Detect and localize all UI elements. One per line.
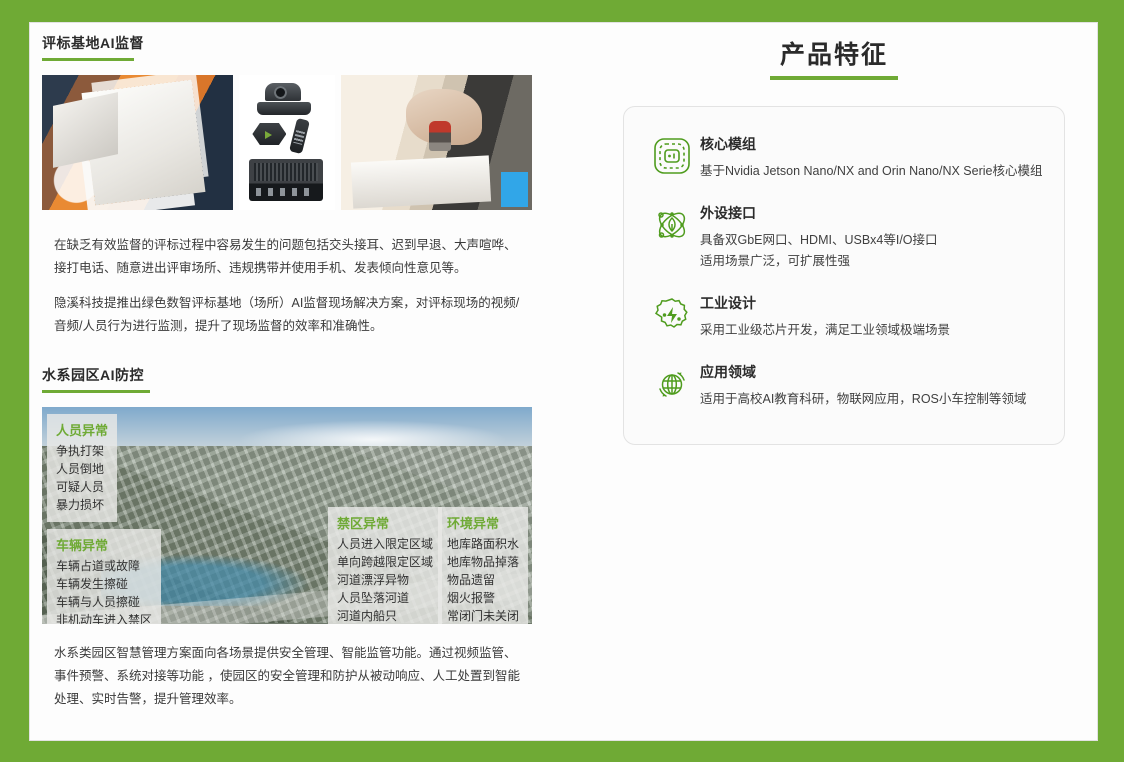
overlay-item: 单向跨越限定区域: [337, 553, 433, 571]
device-lineup-photo: [239, 75, 334, 210]
peripheral-atom-icon: [644, 203, 700, 245]
feature-title: 外设接口: [700, 203, 1044, 223]
overlay-environment-anomaly: 环境异常 地库路面积水 地库物品掉落 物品遗留 烟火报警 常闭门未关闭: [438, 507, 528, 624]
blue-folder-shape: [501, 172, 528, 207]
overlay-item: 常闭门未关闭: [447, 607, 519, 623]
hand-shape: [406, 89, 483, 146]
feature-item-core-module: 核心模组 基于Nvidia Jetson Nano/NX and Orin Na…: [644, 125, 1044, 194]
ptz-camera-icon: [265, 83, 301, 101]
feature-desc-line: 具备双GbE网口、HDMI、USBx4等I/O接口: [700, 230, 1044, 250]
product-features-header: 产品特征: [595, 35, 1073, 80]
overlay-item: 河道漂浮异物: [337, 571, 433, 589]
overlay-item: 非机动车进入禁区: [56, 611, 152, 623]
feature-title: 核心模组: [700, 134, 1044, 154]
overlay-item: 车辆发生擦碰: [56, 575, 152, 593]
overlay-item: 可疑人员: [56, 478, 108, 496]
overlay-item: 地库物品掉落: [447, 553, 519, 571]
industrial-gear-bolt-icon: [644, 293, 700, 335]
camera-base-icon: [257, 102, 311, 115]
section2-paragraph: 水系类园区智慧管理方案面向各场景提供安全管理、智能监管功能。通过视频监管、事件预…: [54, 642, 522, 711]
feature-desc-line: 基于Nvidia Jetson Nano/NX and Orin Nano/NX…: [700, 161, 1044, 181]
overlay-title: 车辆异常: [56, 535, 152, 554]
core-module-chip-icon: [644, 134, 700, 176]
overlay-people-anomaly: 人员异常 争执打架 人员倒地 可疑人员 暴力损坏: [47, 414, 117, 523]
remote-control-icon: [289, 118, 310, 154]
overlay-item: 烟火报警: [447, 589, 519, 607]
page-title: 产品特征: [595, 35, 1073, 71]
title-underline: [770, 76, 898, 80]
section1-paragraph-1: 在缺乏有效监督的评标过程中容易发生的问题包括交头接耳、迟到早退、大声喧哗、接打电…: [54, 234, 522, 280]
overlay-item: 车辆与人员擦碰: [56, 593, 152, 611]
section2-underline: [42, 390, 150, 393]
feature-body: 应用领域 适用于高校AI教育科研，物联网应用，ROS小车控制等领域: [700, 362, 1044, 409]
overlay-title: 禁区异常: [337, 513, 433, 532]
conference-mic-icon: [252, 123, 286, 145]
feature-desc-line: 采用工业级芯片开发，满足工业领域极端场景: [700, 320, 1044, 340]
overlay-item: 地库路面积水: [447, 535, 519, 553]
overlay-title: 环境异常: [447, 513, 519, 532]
overlay-vehicle-anomaly: 车辆异常 车辆占道或故障 车辆发生擦碰 车辆与人员擦碰 非机动车进入禁区: [47, 529, 161, 624]
feature-title: 应用领域: [700, 362, 1044, 382]
section1-paragraph-2: 隐溪科技提推出绿色数智评标基地（场所）AI监督现场解决方案，对评标现场的视频/音…: [54, 292, 522, 338]
overlay-item: 车辆占道或故障: [56, 557, 152, 575]
section-title-bid-base: 评标基地AI监督: [42, 33, 572, 61]
feature-item-application-fields: 应用领域 适用于高校AI教育科研，物联网应用，ROS小车控制等领域: [644, 353, 1044, 422]
right-column: 产品特征 核心模组 基于Nvidia Jetson Nano/NX and Or: [595, 35, 1073, 445]
application-globe-icon: [644, 362, 700, 404]
section1-title: 评标基地AI监督: [42, 33, 144, 58]
section-title-waterway-park: 水系园区AI防控: [42, 365, 572, 393]
overlay-item: 人员进入限定区域: [337, 535, 433, 553]
feature-desc-line: 适用场景广泛，可扩展性强: [700, 251, 1044, 271]
section1-underline: [42, 58, 134, 61]
edge-computer-icon: [249, 159, 323, 201]
overlay-item: 物品遗留: [447, 571, 519, 589]
feature-body: 核心模组 基于Nvidia Jetson Nano/NX and Orin Na…: [700, 134, 1044, 181]
feature-body: 工业设计 采用工业级芯片开发，满足工业领域极端场景: [700, 293, 1044, 340]
feature-item-peripheral-interface: 外设接口 具备双GbE网口、HDMI、USBx4等I/O接口 适用场景广泛，可扩…: [644, 194, 1044, 284]
feature-item-industrial-design: 工业设计 采用工业级芯片开发，满足工业领域极端场景: [644, 284, 1044, 353]
document-stamping-photo: [341, 75, 532, 210]
overlay-item: 人员坠落河道: [337, 589, 433, 607]
page-canvas: 评标基地AI监督 在缺乏有效监督的评标过程中容易发生的问题包括交头接耳、迟到早退…: [30, 23, 1097, 740]
section2-title: 水系园区AI防控: [42, 365, 144, 390]
overlay-title: 人员异常: [56, 420, 108, 439]
overlay-item: 暴力损坏: [56, 496, 108, 514]
feature-card: 核心模组 基于Nvidia Jetson Nano/NX and Orin Na…: [623, 106, 1065, 445]
overlay-item: 河道内船只: [337, 607, 433, 623]
meeting-review-photo: [42, 75, 233, 210]
overlay-item: 人员倒地: [56, 460, 108, 478]
overlay-restricted-zone-anomaly: 禁区异常 人员进入限定区域 单向跨越限定区域 河道漂浮异物 人员坠落河道 河道内…: [328, 507, 442, 624]
aerial-city-waterway-photo: 人员异常 争执打架 人员倒地 可疑人员 暴力损坏 车辆异常 车辆占道或故障 车辆…: [42, 407, 532, 624]
feature-title: 工业设计: [700, 293, 1044, 313]
feature-body: 外设接口 具备双GbE网口、HDMI、USBx4等I/O接口 适用场景广泛，可扩…: [700, 203, 1044, 271]
photo-collage: [42, 75, 532, 210]
left-column: 评标基地AI监督 在缺乏有效监督的评标过程中容易发生的问题包括交头接耳、迟到早退…: [42, 33, 572, 711]
overlay-item: 争执打架: [56, 442, 108, 460]
feature-desc-line: 适用于高校AI教育科研，物联网应用，ROS小车控制等领域: [700, 389, 1044, 409]
